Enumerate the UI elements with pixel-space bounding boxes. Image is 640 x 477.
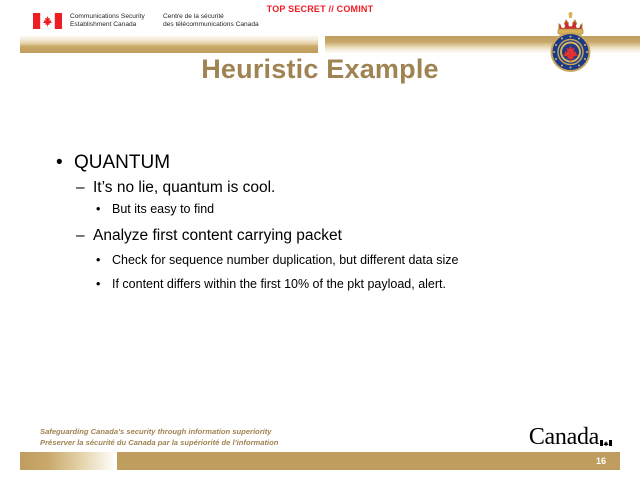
bullet-text: QUANTUM	[74, 150, 640, 176]
page-number: 16	[596, 456, 606, 466]
footer-tagline: Safeguarding Canada’s security through i…	[40, 427, 460, 448]
bullet-marker: •	[56, 150, 74, 176]
header-band-left	[20, 36, 318, 53]
bullet-text: It’s no lie, quantum is cool.	[93, 176, 640, 199]
canada-wordmark-text: Canada	[529, 424, 599, 451]
bullet-marker: •	[96, 250, 112, 271]
bullet-marker: –	[76, 224, 93, 247]
bullet-text: Analyze first content carrying packet	[93, 224, 640, 247]
canada-flag-icon	[33, 13, 62, 29]
footer-gold-bar	[0, 452, 640, 470]
canada-wordmark: Canada	[529, 424, 612, 451]
bullet-marker: –	[76, 176, 93, 199]
bullet-item: – Analyze first content carrying packet	[76, 224, 640, 247]
canada-flag-icon	[600, 426, 612, 432]
bullet-marker: •	[96, 199, 112, 220]
bullet-item: • Check for sequence number duplication,…	[96, 250, 640, 271]
bullet-item: • But its easy to find	[96, 199, 640, 220]
slide-header: Communications Security Establishment Ca…	[0, 0, 640, 56]
department-name-fr: Centre de la sécurité des télécommunicat…	[163, 13, 259, 30]
bullet-text: But its easy to find	[112, 199, 640, 220]
page-title: Heuristic Example	[0, 54, 640, 85]
footer-bar-right	[117, 452, 620, 470]
bullet-text: If content differs within the first 10% …	[112, 274, 640, 295]
bullet-marker: •	[96, 274, 112, 295]
bullet-item: • If content differs within the first 10…	[96, 274, 640, 295]
slide: TOP SECRET // COMINT Communications Secu…	[0, 0, 640, 477]
slide-content: • QUANTUM – It’s no lie, quantum is cool…	[0, 150, 640, 295]
department-name-en: Communications Security Establishment Ca…	[70, 13, 145, 30]
footer-bar-left	[20, 452, 113, 470]
bullet-text: Check for sequence number duplication, b…	[112, 250, 640, 271]
bullet-item: • QUANTUM	[56, 150, 640, 176]
bullet-item: – It’s no lie, quantum is cool.	[76, 176, 640, 199]
